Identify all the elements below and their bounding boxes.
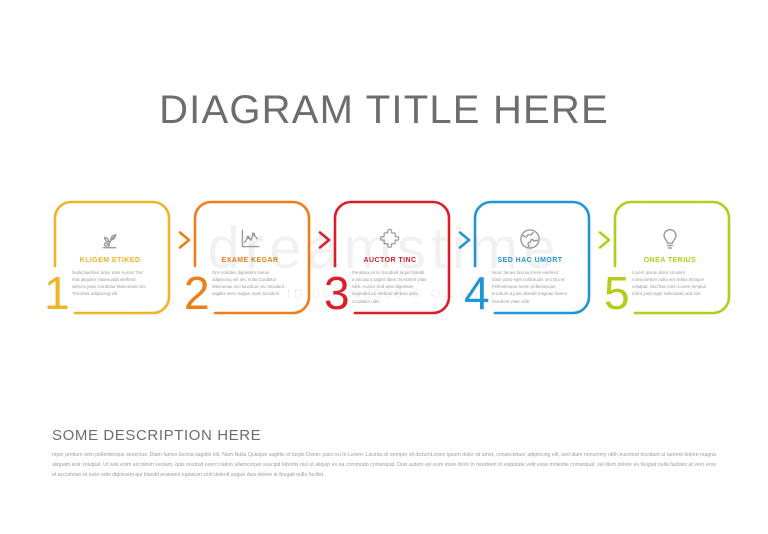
connector-arrow-2-to-3: [292, 229, 338, 251]
step-number: 4: [464, 270, 490, 316]
process-steps-row: KLIGEM ETIKEDNulla faucibus dolor nam Au…: [40, 196, 740, 346]
process-step-1[interactable]: KLIGEM ETIKEDNulla faucibus dolor nam Au…: [40, 196, 180, 346]
connector-arrow-3-to-4: [432, 229, 478, 251]
step-body-text: Orci sodales dignissim metus adipiscing …: [212, 269, 288, 298]
process-step-3[interactable]: AUCTOR TINCPendisse at nc tincidunt turp…: [320, 196, 460, 346]
step-heading: EXAME KEGAR: [180, 257, 320, 264]
infographic-canvas: DIAGRAM TITLE HERE dreamstime ID 0000000…: [0, 0, 768, 534]
step-number: 3: [324, 270, 350, 316]
lightbulb-icon: [600, 226, 740, 256]
connector-arrow-1-to-2: [152, 229, 198, 251]
connector-arrow-4-to-5: [572, 229, 618, 251]
step-heading: SED HAC UMORT: [460, 257, 600, 264]
description-title: SOME DESCRIPTION HERE: [52, 427, 261, 444]
process-step-5[interactable]: ONEA TERIUSLorem ipsum dolor sit amet co…: [600, 196, 740, 346]
step-body-text: Pendisse at nc tincidunt turpis blandit …: [352, 269, 428, 305]
step-heading: ONEA TERIUS: [600, 257, 740, 264]
step-number: 1: [44, 270, 70, 316]
step-body-text: Nunc fames lacinia lorem eleifend dolor …: [492, 269, 568, 305]
description-body: mper pretium sem pellentesque senectus. …: [52, 450, 716, 480]
step-body-text: Nulla faucibus dolor nam Auctor Tinc era…: [72, 269, 148, 298]
step-heading: KLIGEM ETIKED: [40, 257, 180, 264]
page-title: DIAGRAM TITLE HERE: [0, 88, 768, 133]
process-step-4[interactable]: SED HAC UMORTNunc fames lacinia lorem el…: [460, 196, 600, 346]
step-number: 5: [604, 270, 630, 316]
process-step-2[interactable]: EXAME KEGAROrci sodales dignissim metus …: [180, 196, 320, 346]
step-body-text: Lorem ipsum dolor sit amet consectetuer …: [632, 269, 708, 298]
step-number: 2: [184, 270, 210, 316]
step-heading: AUCTOR TINC: [320, 257, 460, 264]
